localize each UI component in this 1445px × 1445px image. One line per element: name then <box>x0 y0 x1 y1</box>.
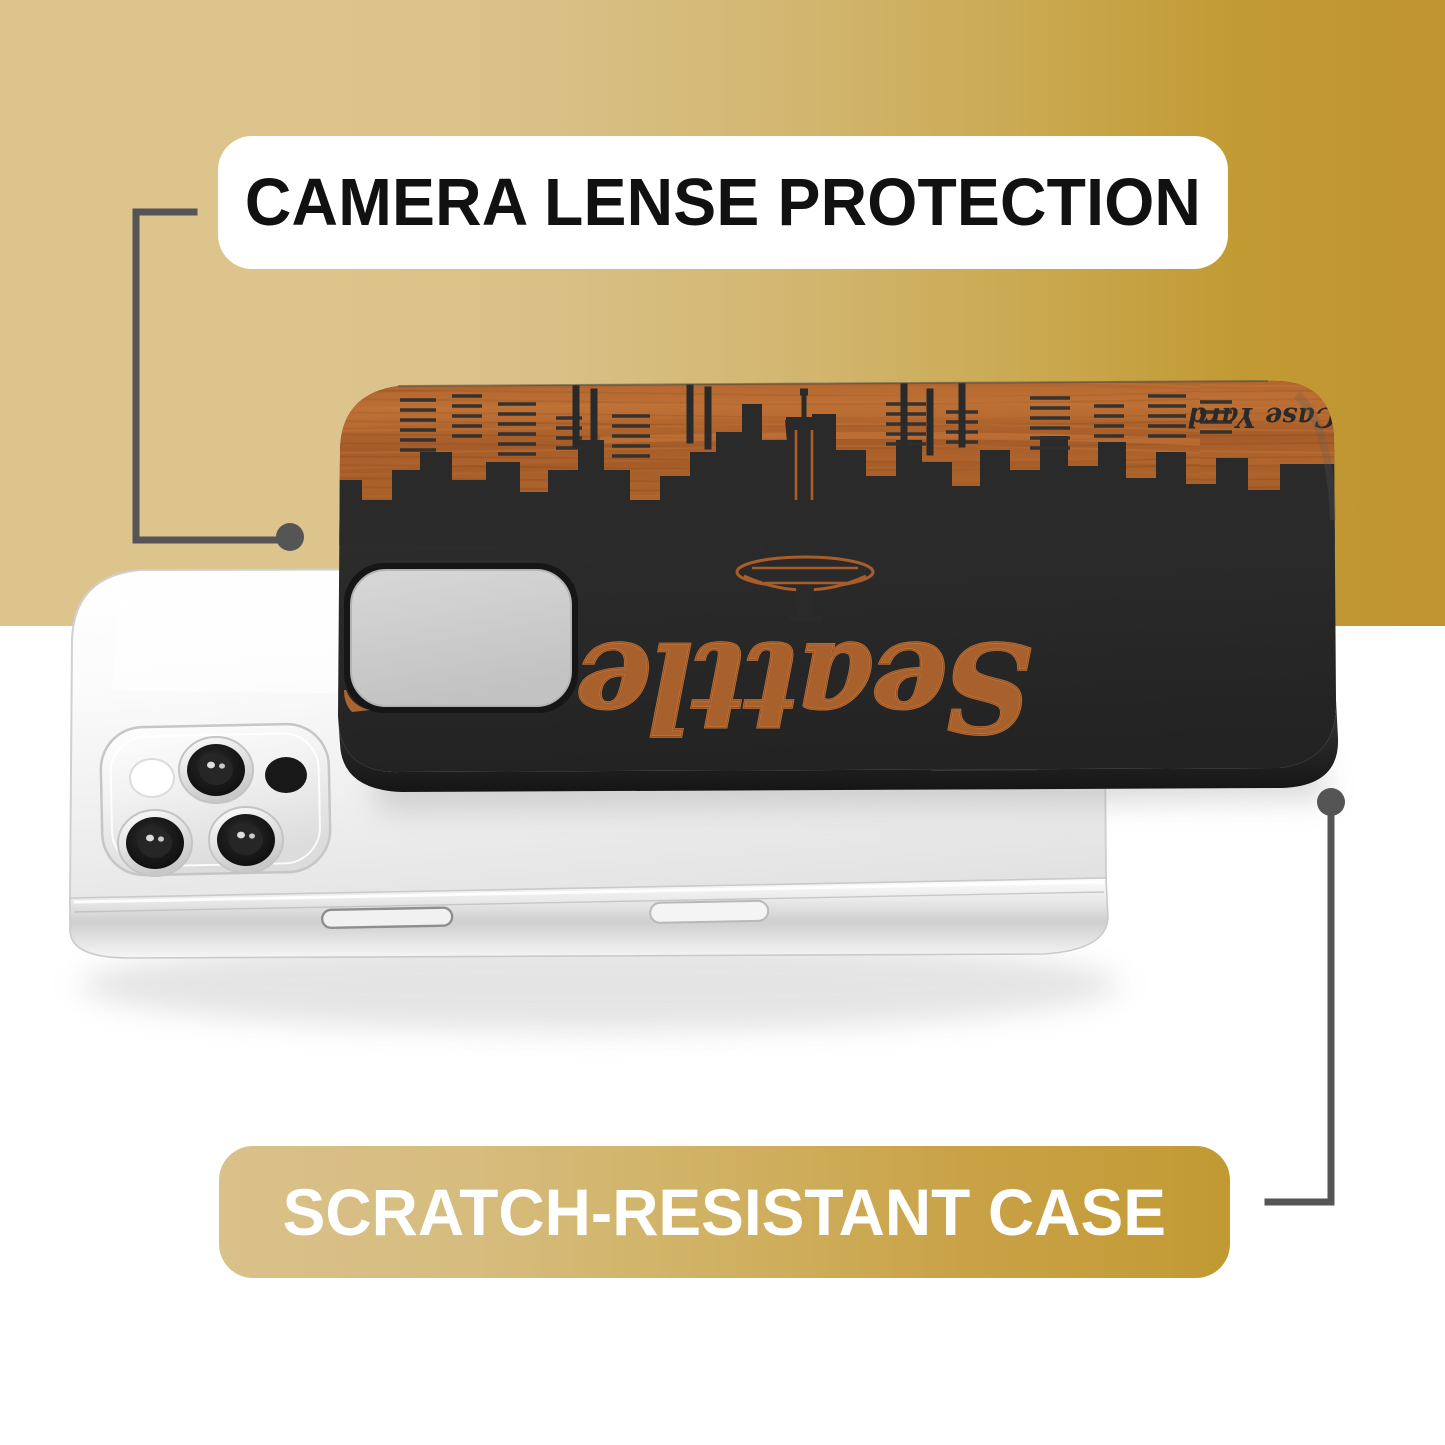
lidar-sensor-icon <box>265 757 307 793</box>
phone-camera-module <box>100 723 331 876</box>
camera-lens-icon <box>209 807 283 873</box>
product-feature-graphic: Seattle Seattle Case Yard <box>0 0 1445 1445</box>
seattle-wood-phone-case: Seattle Seattle Case Yard <box>338 375 1342 812</box>
camera-cutout <box>344 563 578 713</box>
camera-lens-protection-label: CAMERA LENSE PROTECTION <box>245 164 1201 241</box>
camera-lens-protection-callout[interactable]: CAMERA LENSE PROTECTION <box>218 136 1228 269</box>
camera-flash-icon <box>130 759 174 797</box>
camera-lens-icon <box>179 737 253 803</box>
phone-power-button <box>650 901 768 923</box>
seattle-script-engraving: Seattle Seattle <box>578 615 1031 759</box>
svg-text:Seattle: Seattle <box>578 615 1031 759</box>
camera-lens-icon <box>118 810 192 876</box>
camera-cutout-window <box>351 570 571 706</box>
phone-volume-button <box>322 908 452 928</box>
scratch-resistant-case-callout[interactable]: SCRATCH-RESISTANT CASE <box>219 1146 1230 1278</box>
scratch-resistant-case-label: SCRATCH-RESISTANT CASE <box>283 1174 1166 1250</box>
